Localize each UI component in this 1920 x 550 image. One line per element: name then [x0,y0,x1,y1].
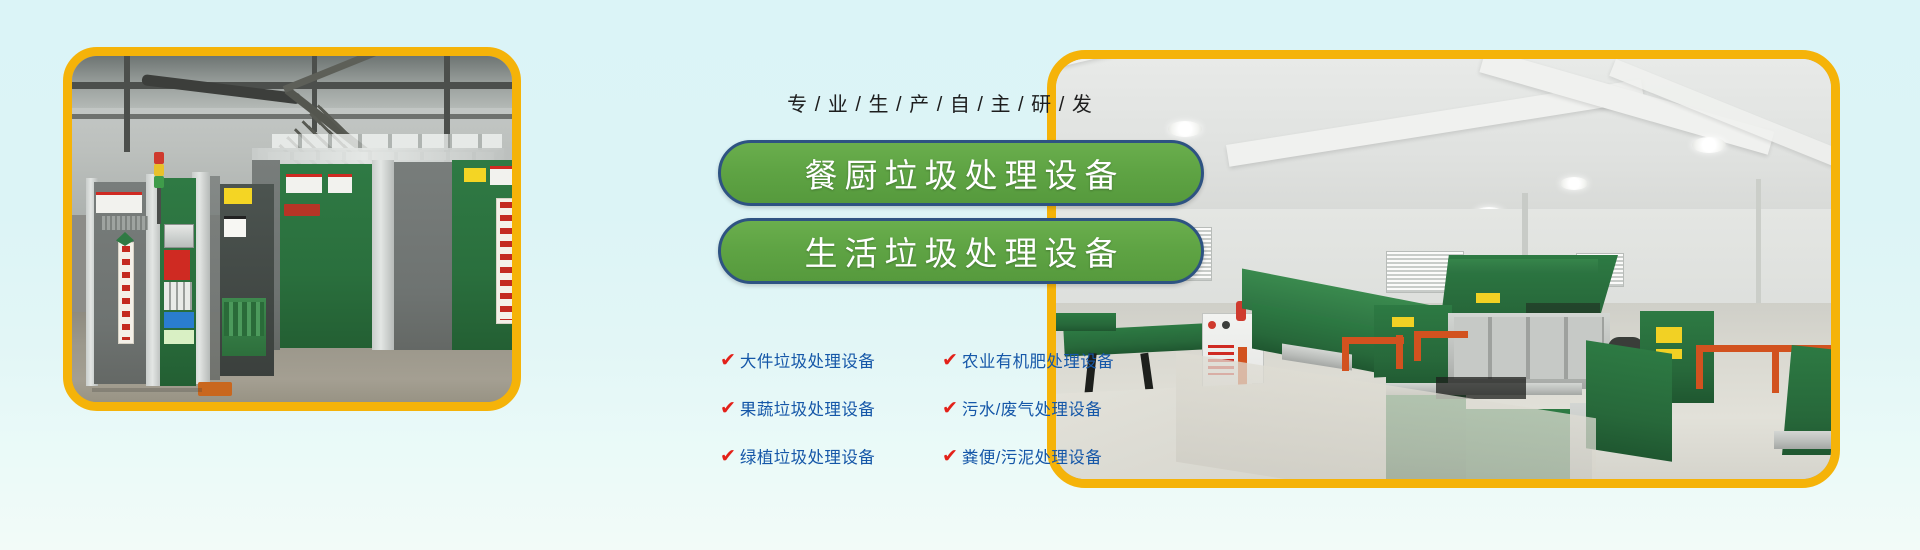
feature-row: ✔ 果蔬垃圾处理设备 ✔ 污水/废气处理设备 [720,396,1220,420]
ceiling-lamp [1560,177,1588,190]
right-machine-base [1774,431,1831,449]
feature-label: 农业有机肥处理设备 [962,348,1114,372]
check-icon: ✔ [720,447,736,466]
feature-label: 果蔬垃圾处理设备 [740,396,875,420]
safety-rail-post [1342,337,1349,371]
red-vertical-banner [118,242,134,344]
feature-item[interactable]: ✔ 大件垃圾处理设备 [720,348,942,372]
floor-crate [198,382,232,396]
check-icon: ✔ [942,399,958,418]
feature-item[interactable]: ✔ 粪便/污泥处理设备 [942,444,1182,468]
safety-rail-post [1772,349,1779,393]
warning-label [490,166,512,185]
feature-label: 绿植垃圾处理设备 [740,444,875,468]
warning-label [224,216,246,237]
red-vertical-banner [496,198,512,324]
machine-panel-grey [394,162,452,350]
roof-post [124,56,130,152]
caution-label [464,168,486,182]
ceiling-lamp [1692,137,1726,153]
button-keypad [164,282,192,310]
machine-frame [210,176,220,380]
signal-light-green [154,176,164,188]
feature-row: ✔ 绿植垃圾处理设备 ✔ 粪便/污泥处理设备 [720,444,1220,468]
safety-rail [1414,331,1468,338]
warning-label [286,174,322,193]
left-photo[interactable] [63,47,521,411]
check-icon: ✔ [720,351,736,370]
signal-light-red [154,152,164,164]
feature-list: ✔ 大件垃圾处理设备 ✔ 农业有机肥处理设备 ✔ 果蔬垃圾处理设备 ✔ 污水/废… [720,348,1220,492]
safety-rail-post [1696,345,1703,389]
green-label [164,330,194,344]
product-banner: 专 / 业 / 生 / 产 / 自 / 主 / 研 / 发 餐厨垃圾处理设备 生… [0,0,1920,550]
feature-label: 大件垃圾处理设备 [740,348,875,372]
safety-rail-post [1414,331,1421,361]
caution-label [1476,293,1500,303]
caution-label [224,188,252,204]
feature-item[interactable]: ✔ 绿植垃圾处理设备 [720,444,942,468]
caution-label [1656,327,1682,343]
product-pill-kitchen-waste[interactable]: 餐厨垃圾处理设备 [718,140,1204,206]
vent-grille [102,216,148,230]
feature-label: 粪便/污泥处理设备 [962,444,1102,468]
feature-item[interactable]: ✔ 果蔬垃圾处理设备 [720,396,942,420]
housing-panels [1454,317,1604,379]
feature-item[interactable]: ✔ 农业有机肥处理设备 [942,348,1182,372]
machine-logo [284,204,320,216]
rotor-blades [224,302,264,336]
hopper-rim [1448,259,1598,273]
floor-shadow [92,388,202,392]
feature-label: 污水/废气处理设备 [962,396,1102,420]
emergency-panel [164,250,190,280]
product-pill-label: 餐厨垃圾处理设备 [798,149,1125,197]
signal-light-yellow [154,164,164,176]
feature-row: ✔ 大件垃圾处理设备 ✔ 农业有机肥处理设备 [720,348,1220,372]
signal-tower-pole [157,188,161,224]
feature-item[interactable]: ✔ 污水/废气处理设备 [942,396,1182,420]
blue-label [164,312,194,328]
check-icon: ✔ [942,351,958,370]
left-photo-scene [72,56,512,402]
tagline: 专 / 业 / 生 / 产 / 自 / 主 / 研 / 发 [580,88,1300,117]
machine-frame [372,160,394,350]
warning-label [328,174,352,193]
product-pill-domestic-waste[interactable]: 生活垃圾处理设备 [718,218,1204,284]
caution-label [1392,317,1414,327]
warning-label [96,192,142,213]
check-icon: ✔ [942,447,958,466]
center-content: 专 / 业 / 生 / 产 / 自 / 主 / 研 / 发 餐厨垃圾处理设备 生… [580,0,1300,550]
control-box [164,224,194,248]
product-pill-label: 生活垃圾处理设备 [798,227,1125,275]
safety-rail-post [1396,335,1403,369]
check-icon: ✔ [720,399,736,418]
safety-rail [1342,337,1404,344]
discharge-chute [1586,340,1672,462]
